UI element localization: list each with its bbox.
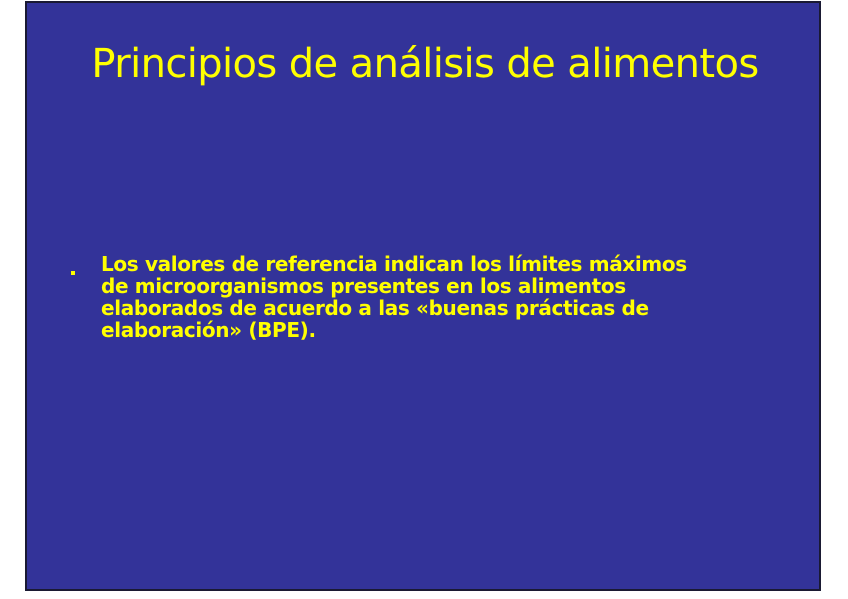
bullet-point-icon — [67, 253, 101, 280]
bullet-text-line-3: elaborados de acuerdo a las «buenas prác… — [101, 297, 797, 319]
bullet-text-line-4: elaboración» (BPE). — [101, 319, 797, 341]
bullet-text-block: Los valores de referencia indican los lí… — [101, 253, 797, 341]
bullet-list-item: Los valores de referencia indican los lí… — [67, 253, 797, 341]
slide-title: Principios de análisis de alimentos — [27, 41, 821, 87]
bullet-text-line-2: de microorganismos presentes en los alim… — [101, 275, 797, 297]
presentation-slide: Principios de análisis de alimentos Los … — [25, 1, 821, 591]
slide-body: Los valores de referencia indican los lí… — [67, 253, 797, 341]
slide-canvas: Principios de análisis de alimentos Los … — [0, 0, 848, 599]
bullet-text-line-1: Los valores de referencia indican los lí… — [101, 253, 797, 275]
